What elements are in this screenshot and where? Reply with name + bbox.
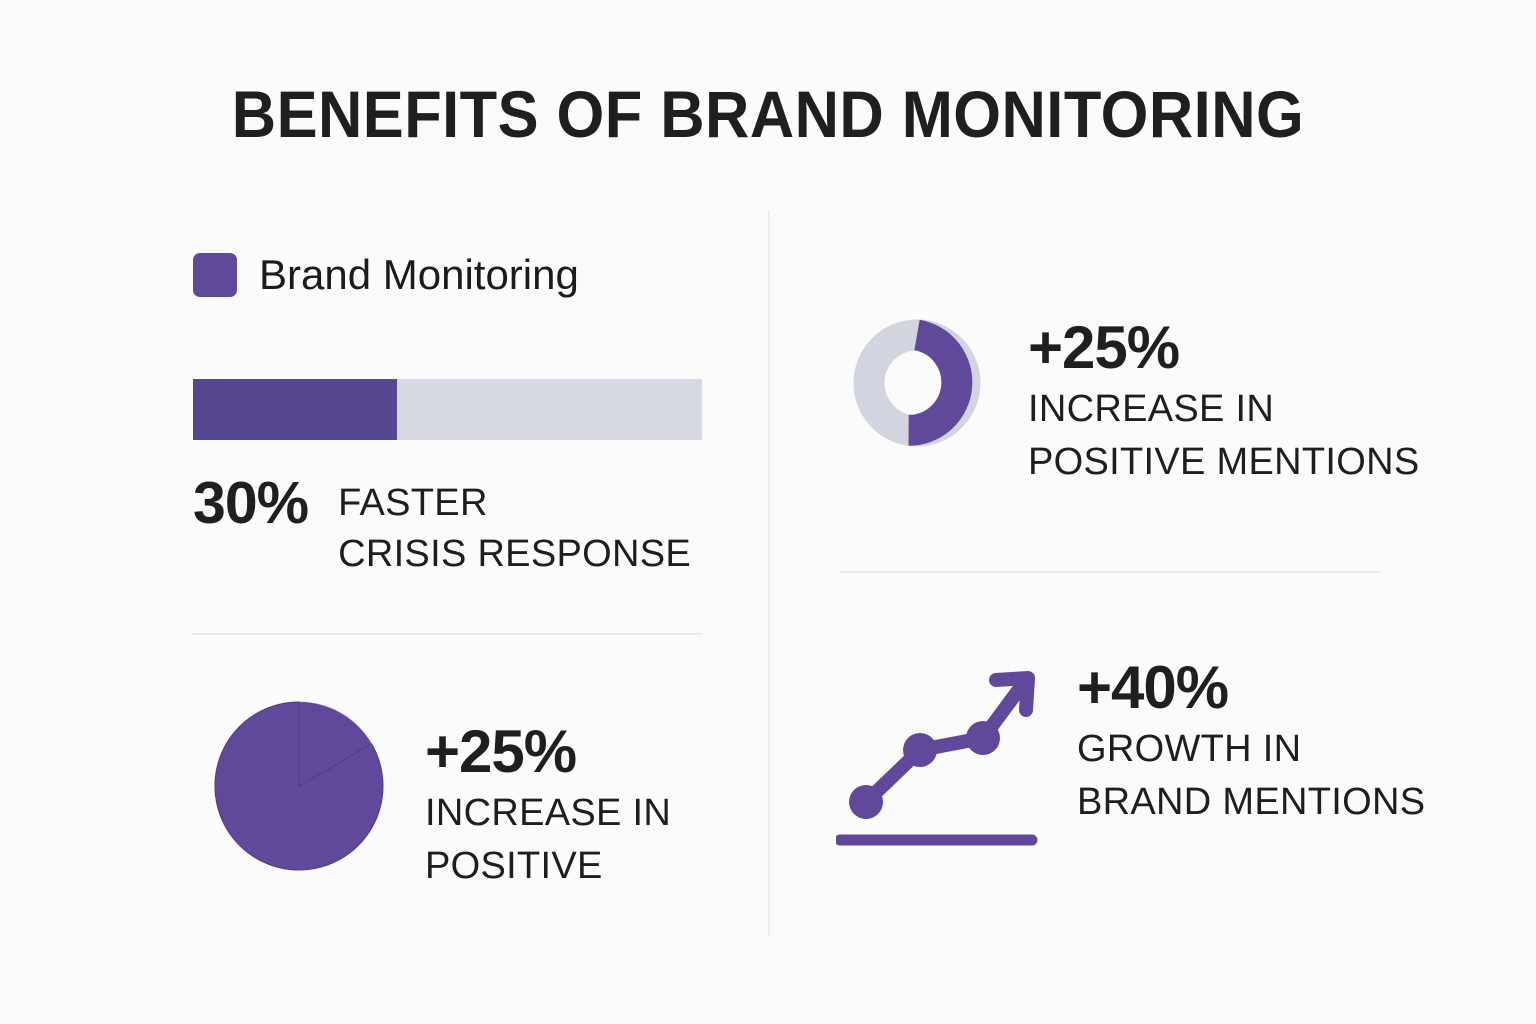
donut-segment-brand-monitoring xyxy=(909,335,957,430)
stat-crisis-response-caption: FASTER CRISIS RESPONSE xyxy=(338,474,691,577)
positive-increase-pie-chart xyxy=(213,700,385,872)
crisis-response-progress-track xyxy=(193,379,702,440)
vertical-divider xyxy=(768,210,770,936)
stat-positive-increase-caption-line2: POSITIVE xyxy=(425,845,671,888)
legend-label: Brand Monitoring xyxy=(259,254,579,296)
stat-positive-mentions: +25% INCREASE IN POSITIVE MENTIONS xyxy=(852,318,1419,485)
stat-positive-mentions-caption-line1: INCREASE IN xyxy=(1028,388,1419,431)
stat-crisis-response-caption-line2: CRISIS RESPONSE xyxy=(338,533,691,576)
stat-positive-increase-caption-line1: INCREASE IN xyxy=(425,792,671,835)
page-title: BENEFITS OF BRAND MONITORING xyxy=(54,76,1482,152)
stat-crisis-response: 30% FASTER CRISIS RESPONSE xyxy=(193,474,691,577)
stat-brand-mentions-growth: +40% GROWTH IN BRAND MENTIONS xyxy=(836,658,1425,853)
stat-crisis-response-caption-line1: FASTER xyxy=(338,482,691,525)
left-section-divider xyxy=(192,633,702,635)
infographic-canvas: BENEFITS OF BRAND MONITORING Brand Monit… xyxy=(0,0,1536,1024)
stat-brand-mentions-growth-caption-line2: BRAND MENTIONS xyxy=(1077,781,1425,824)
positive-mentions-donut-chart xyxy=(852,318,982,448)
growth-data-point-2 xyxy=(903,733,937,767)
growth-data-point-3 xyxy=(966,721,1000,755)
growth-data-point-1 xyxy=(849,785,883,819)
growth-line-path xyxy=(866,680,1026,802)
stat-positive-increase: +25% INCREASE IN POSITIVE xyxy=(213,700,671,889)
stat-positive-mentions-text: +25% INCREASE IN POSITIVE MENTIONS xyxy=(1028,318,1419,485)
stat-positive-mentions-value: +25% xyxy=(1028,318,1419,378)
growth-arrow-line-chart xyxy=(836,658,1041,853)
right-section-divider xyxy=(840,571,1380,573)
legend: Brand Monitoring xyxy=(193,253,579,297)
stat-crisis-response-value: 30% xyxy=(193,474,308,533)
stat-positive-mentions-caption-line2: POSITIVE MENTIONS xyxy=(1028,441,1419,484)
stat-positive-increase-value: +25% xyxy=(425,722,671,782)
stat-brand-mentions-growth-value: +40% xyxy=(1077,658,1425,718)
stat-brand-mentions-growth-caption-line1: GROWTH IN xyxy=(1077,728,1425,771)
legend-swatch-icon xyxy=(193,253,237,297)
crisis-response-progress-fill xyxy=(193,379,397,440)
stat-positive-increase-text: +25% INCREASE IN POSITIVE xyxy=(425,722,671,889)
stat-brand-mentions-growth-text: +40% GROWTH IN BRAND MENTIONS xyxy=(1077,658,1425,825)
